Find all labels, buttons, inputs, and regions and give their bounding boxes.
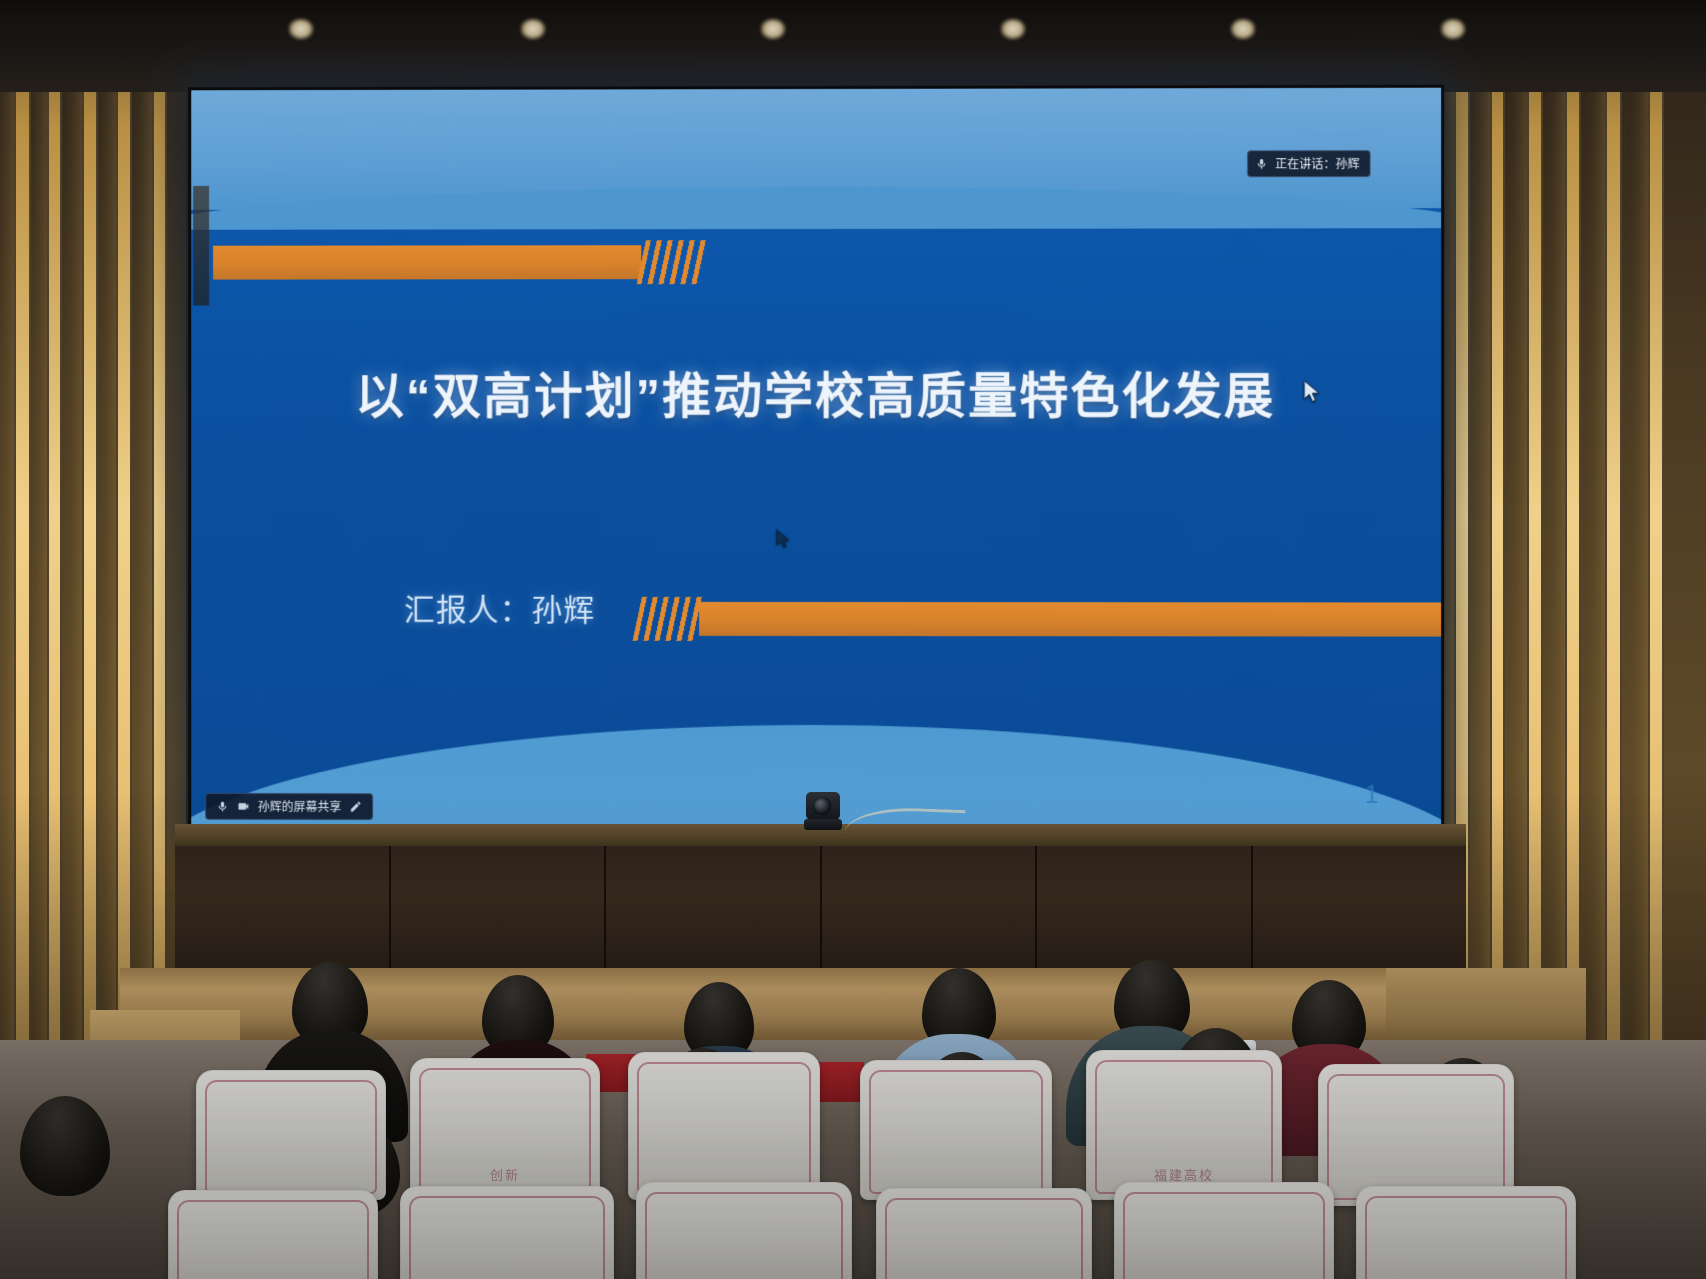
auditorium-seat	[628, 1052, 820, 1200]
auditorium-seat	[1356, 1186, 1576, 1279]
microphone-icon[interactable]	[216, 800, 229, 813]
slide-top-band	[191, 88, 1441, 210]
speaking-badge-text: 正在讲话：孙辉	[1275, 155, 1359, 172]
orange-accent-bar-bottom	[699, 602, 1441, 637]
video-camera-icon[interactable]	[237, 800, 250, 813]
auditorium-seat	[168, 1190, 378, 1279]
screen-share-bar[interactable]: 孙辉的屏幕共享	[205, 793, 373, 820]
slide-presenter: 汇报人：孙辉	[404, 585, 595, 630]
seat-label: 创新	[410, 1165, 600, 1184]
ceiling-strip	[0, 0, 1706, 92]
presentation-slide: 以“双高计划”推动学校高质量特色化发展 汇报人：孙辉 1 正在讲话：孙辉	[191, 88, 1441, 833]
ptz-conference-camera	[802, 790, 844, 834]
screen-share-label: 孙辉的屏幕共享	[258, 798, 342, 815]
auditorium-seat	[860, 1060, 1052, 1200]
orange-accent-bar-top	[213, 245, 641, 279]
auditorium-seat	[636, 1182, 852, 1279]
speaking-badge: 正在讲话：孙辉	[1247, 150, 1371, 177]
slide-title: 以“双高计划”推动学校高质量特色化发展	[191, 357, 1441, 428]
hatch-stripes-top	[637, 240, 708, 284]
auditorium-seat	[1318, 1064, 1514, 1206]
auditorium-seat	[876, 1188, 1092, 1279]
microphone-icon	[1255, 157, 1268, 170]
auditorium-seat	[196, 1070, 386, 1200]
auditorium-seat: 福建高校	[1086, 1050, 1282, 1200]
auditorium-scene: 以“双高计划”推动学校高质量特色化发展 汇报人：孙辉 1 正在讲话：孙辉	[0, 0, 1706, 1279]
slide-page-number: 1	[1365, 781, 1379, 810]
hatch-stripes-bottom	[633, 597, 704, 641]
led-display-screen: 以“双高计划”推动学校高质量特色化发展 汇报人：孙辉 1 正在讲话：孙辉	[188, 85, 1444, 836]
auditorium-seat	[400, 1186, 614, 1279]
auditorium-seat	[1114, 1182, 1334, 1279]
stage-cabinet	[175, 846, 1466, 972]
pencil-icon[interactable]	[349, 800, 362, 813]
screen-edge-artifact	[193, 186, 209, 306]
auditorium-seat: 创新	[410, 1058, 600, 1200]
